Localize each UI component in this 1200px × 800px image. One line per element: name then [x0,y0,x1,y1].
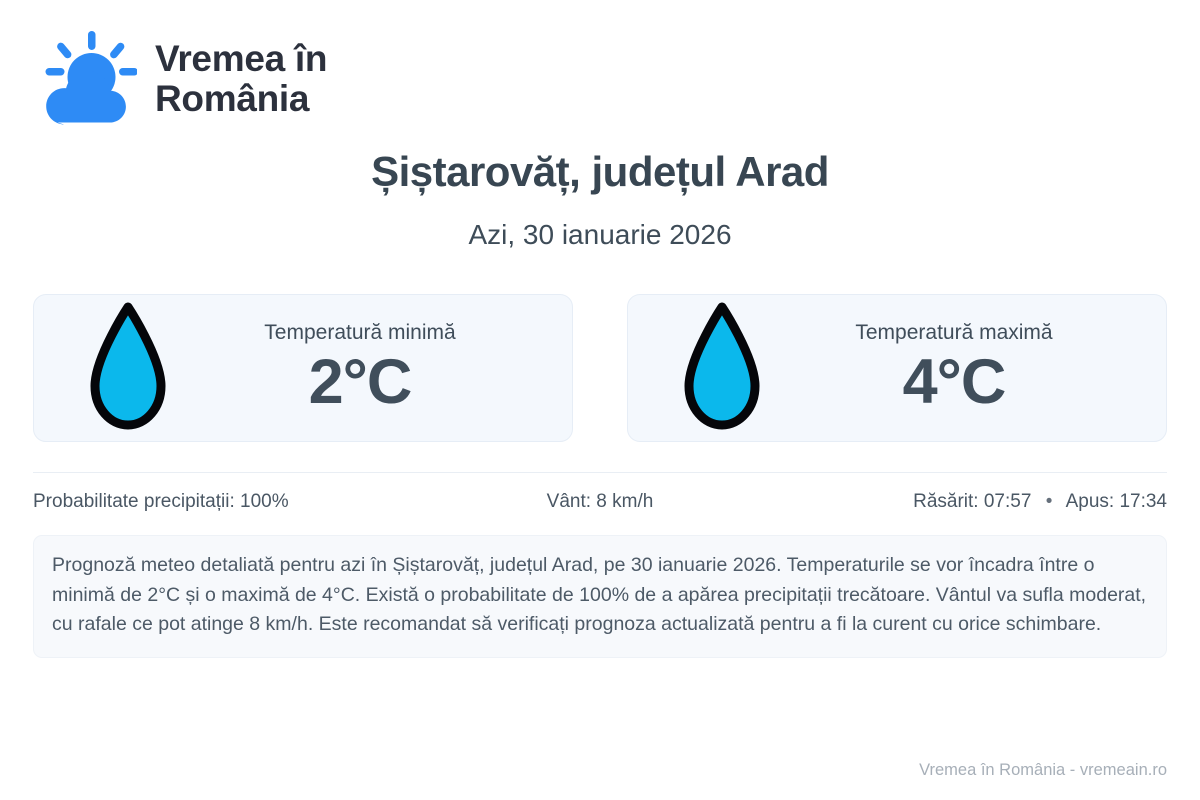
card-body: Temperatură maximă 4°C [766,320,1156,415]
bullet-separator: • [1037,491,1062,512]
stat-sun-times: Răsărit: 07:57 • Apus: 17:34 [789,491,1167,513]
forecast-description: Prognoză meteo detaliată pentru azi în Ș… [33,535,1167,658]
water-drop-icon [682,302,762,434]
brand-name: Vremea în România [155,39,327,119]
stat-sunset: Apus: 17:34 [1066,491,1167,512]
weather-page: Vremea în România Șiștarovăț, județul Ar… [0,0,1200,800]
page-title: Șiștarovăț, județul Arad [33,148,1167,196]
stat-precipitation: Probabilitate precipitații: 100% [33,491,411,513]
stat-wind: Vânt: 8 km/h [411,491,789,513]
card-label: Temperatură minimă [172,320,548,345]
footer-credit: Vremea în România - vremeain.ro [919,761,1167,780]
weather-stats-row: Probabilitate precipitații: 100% Vânt: 8… [33,473,1167,531]
sun-behind-cloud-icon [33,31,137,127]
brand-header[interactable]: Vremea în România [33,0,1167,110]
stat-sunrise: Răsărit: 07:57 [913,491,1031,512]
card-temperature-min: Temperatură minimă 2°C [33,294,573,442]
temperature-cards: Temperatură minimă 2°C Temperatură maxim… [33,294,1167,442]
card-label: Temperatură maximă [766,320,1142,345]
card-value: 4°C [766,349,1142,415]
page-subtitle: Azi, 30 ianuarie 2026 [33,218,1167,252]
card-value: 2°C [172,349,548,415]
card-body: Temperatură minimă 2°C [172,320,562,415]
water-drop-icon [88,302,168,434]
card-temperature-max: Temperatură maximă 4°C [627,294,1167,442]
